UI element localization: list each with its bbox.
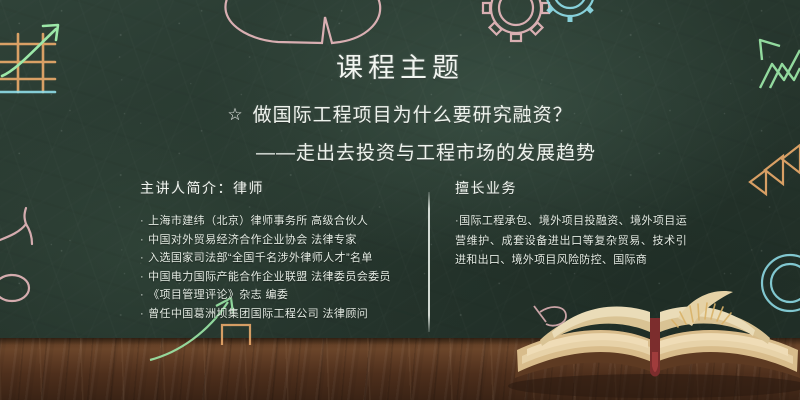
subtitle-line-1-text: 做国际工程项目为什么要研究融资？ — [253, 105, 573, 126]
list-item: ·《项目管理评论》杂志 编委 — [140, 286, 402, 305]
wooden-ledge — [0, 338, 800, 400]
list-item-text: 中国对外贸易经济合作企业协会 法律专家 — [148, 234, 357, 246]
expertise-column: 擅长业务 ·国际工程承包、境外项目投融资、境外项目运营维护、成套设备进出口等复杂… — [455, 178, 687, 271]
bullet-dot: · — [140, 231, 144, 250]
list-item-text: 曾任中国葛洲坝集团国际工程公司 法律顾问 — [148, 308, 368, 320]
bullet-dot: · — [140, 212, 144, 231]
list-item-text: 上海市建纬（北京）律师事务所 高级合伙人 — [148, 215, 368, 227]
list-item-text: 入选国家司法部“全国千名涉外律师人才”名单 — [148, 252, 373, 264]
list-item-text: 中国电力国际产能合作企业联盟 法律委员会委员 — [148, 271, 391, 283]
list-item-text: 《项目管理评论》杂志 编委 — [148, 289, 288, 301]
bullet-dot: · — [140, 249, 144, 268]
list-item: ·中国对外贸易经济合作企业协会 法律专家 — [140, 231, 402, 250]
subtitle-line-2: ——走出去投资与工程市场的发展趋势 — [0, 138, 800, 165]
expertise-heading: 擅长业务 — [455, 178, 687, 198]
speaker-bio-column: 主讲人简介：律师 ·上海市建纬（北京）律师事务所 高级合伙人 ·中国对外贸易经济… — [140, 178, 402, 323]
bullet-dot: · — [140, 268, 144, 287]
expertise-body: ·国际工程承包、境外项目投融资、境外项目运营维护、成套设备进出口等复杂贸易、技术… — [455, 212, 687, 271]
speaker-bio-heading: 主讲人简介：律师 — [140, 178, 402, 198]
column-divider — [428, 192, 430, 332]
page-title: 课程主题 — [0, 46, 800, 85]
course-topic-slide: 课程主题 ☆做国际工程项目为什么要研究融资？ ——走出去投资与工程市场的发展趋势… — [0, 0, 800, 400]
list-item: ·曾任中国葛洲坝集团国际工程公司 法律顾问 — [140, 305, 402, 324]
subtitle-line-1: ☆做国际工程项目为什么要研究融资？ — [0, 100, 800, 127]
wood-grain-texture — [0, 338, 800, 400]
star-icon: ☆ — [227, 105, 243, 125]
bullet-dot: · — [140, 286, 144, 305]
bullet-dot: · — [140, 305, 144, 324]
subtitle-block: ☆做国际工程项目为什么要研究融资？ ——走出去投资与工程市场的发展趋势 — [0, 100, 800, 165]
speaker-bio-list: ·上海市建纬（北京）律师事务所 高级合伙人 ·中国对外贸易经济合作企业协会 法律… — [140, 212, 402, 323]
list-item: ·中国电力国际产能合作企业联盟 法律委员会委员 — [140, 268, 402, 287]
list-item: ·上海市建纬（北京）律师事务所 高级合伙人 — [140, 212, 402, 231]
list-item: ·入选国家司法部“全国千名涉外律师人才”名单 — [140, 249, 402, 268]
